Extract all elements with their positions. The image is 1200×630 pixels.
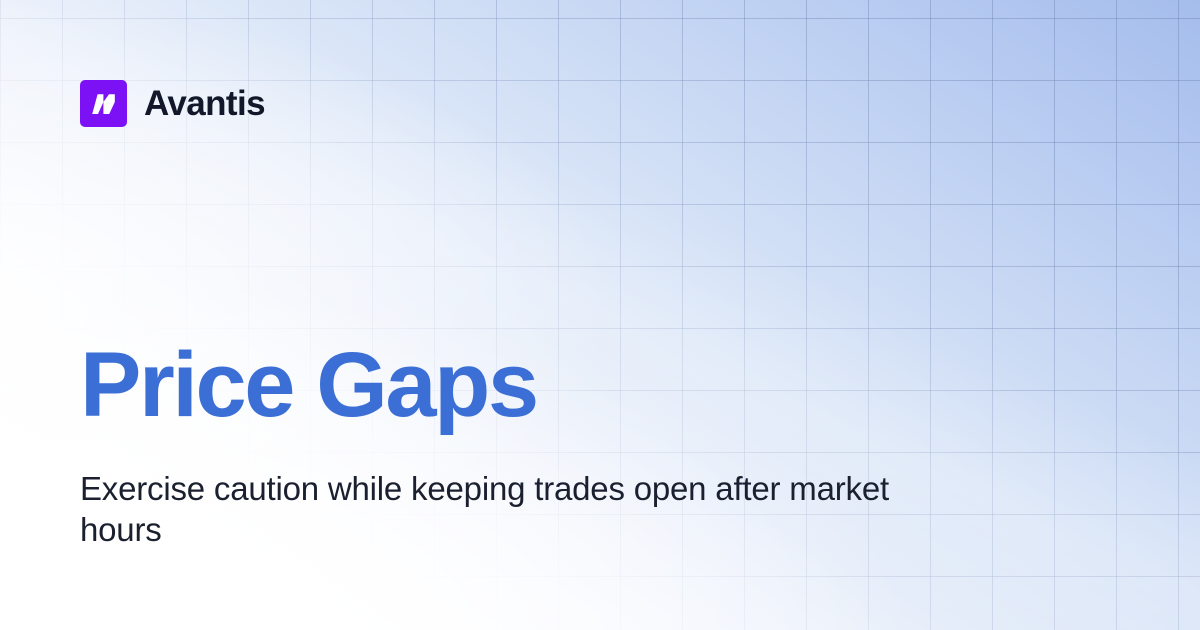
page-title: Price Gaps xyxy=(80,337,537,435)
og-card: Avantis Price Gaps Exercise caution whil… xyxy=(0,0,1200,630)
brand-lockup: Avantis xyxy=(80,80,265,127)
card-content: Avantis Price Gaps Exercise caution whil… xyxy=(0,0,1200,630)
brand-name: Avantis xyxy=(144,86,265,121)
page-subtitle: Exercise caution while keeping trades op… xyxy=(80,468,900,551)
avantis-logo-icon xyxy=(80,80,127,127)
